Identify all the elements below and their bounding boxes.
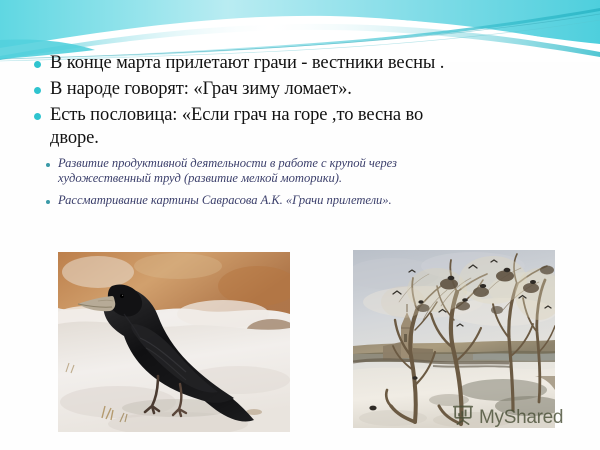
list-item-line: В конце марта прилетают грачи - вестники… [50,52,444,75]
list-item-line: дворе. [50,127,423,150]
list-item-line: художественный труд (развитие мелкой мот… [58,171,397,186]
list-item-text: В народе говорят: «Грач зиму ломает». [50,78,352,101]
savrasov-painting [353,250,555,428]
bullet-dot-icon [46,200,50,204]
bullet-dot-icon [46,163,50,167]
list-item: Развитие продуктивной деятельности в раб… [0,156,600,186]
list-item-text: Развитие продуктивной деятельности в раб… [58,156,397,186]
list-item-text: В конце марта прилетают грачи - вестники… [50,52,444,75]
bullet-list: В конце марта прилетают грачи - вестники… [0,52,600,209]
list-item-text: Есть пословица: «Если грач на горе ,то в… [50,104,423,150]
list-item-line: Есть пословица: «Если грач на горе ,то в… [50,104,423,127]
presentation-slide: В конце марта прилетают грачи - вестники… [0,0,600,450]
list-item-text: Рассматривание картины Саврасова А.К. «Г… [58,193,392,208]
bullet-dot-icon [34,61,41,68]
list-item: Рассматривание картины Саврасова А.К. «Г… [0,193,600,208]
rook-photograph [58,252,290,432]
list-item: Есть пословица: «Если грач на горе ,то в… [0,104,600,150]
list-item-line: Рассматривание картины Саврасова А.К. «Г… [58,193,392,208]
bullet-dot-icon [34,87,41,94]
list-item-line: Развитие продуктивной деятельности в раб… [58,156,397,171]
list-item-line: В народе говорят: «Грач зиму ломает». [50,78,352,101]
bullet-dot-icon [34,113,41,120]
list-item: В конце марта прилетают грачи - вестники… [0,52,600,75]
list-item: В народе говорят: «Грач зиму ломает». [0,78,600,101]
